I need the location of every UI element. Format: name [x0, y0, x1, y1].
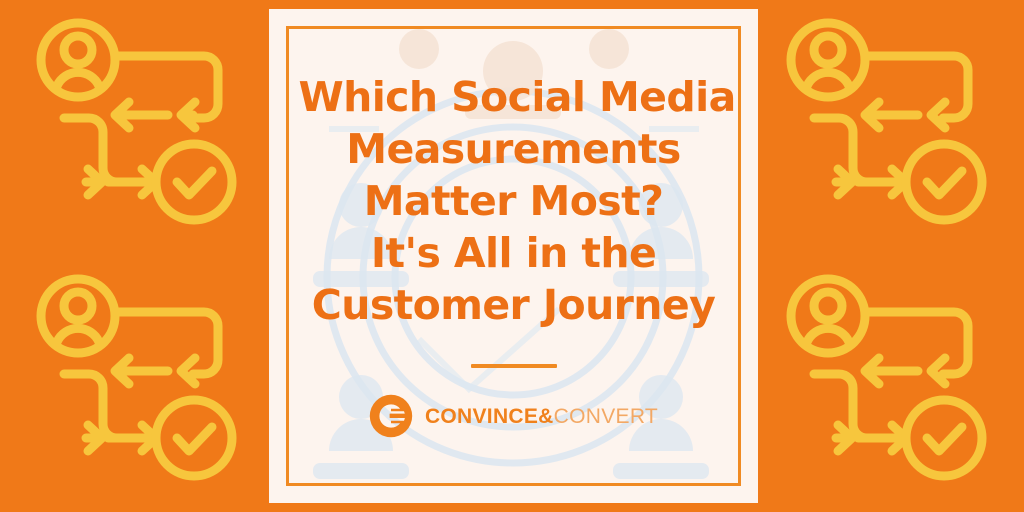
- left-arrow-icon: [115, 358, 168, 384]
- customer-journey-flow-icon: [780, 268, 1002, 490]
- right-arrow-icon: [108, 425, 156, 451]
- left-arrow-icon: [115, 102, 168, 128]
- check-circle-icon: [906, 400, 982, 476]
- check-circle-icon: [156, 144, 232, 220]
- left-arrow-icon: [865, 102, 918, 128]
- headline-line-5: Customer Journey: [299, 279, 729, 331]
- convince-and-convert-c-mark-icon: [369, 394, 413, 438]
- customer-journey-flow-icon: [30, 268, 252, 490]
- headline-line-4: It's All in the: [299, 227, 729, 279]
- social-share-graphic: Which Social Media Measurements Matter M…: [0, 0, 1024, 512]
- headline-line-1: Which Social Media: [299, 71, 729, 123]
- check-circle-icon: [156, 400, 232, 476]
- customer-journey-flow-icon: [780, 12, 1002, 234]
- right-arrow-icon: [858, 425, 906, 451]
- left-arrow-icon: [181, 102, 195, 128]
- right-arrow-icon: [108, 169, 156, 195]
- title-divider: [471, 364, 557, 368]
- brand-logo: CONVINCE&CONVERT: [369, 394, 658, 438]
- wordmark-convert: CONVERT: [554, 405, 658, 428]
- customer-journey-flow-icon: [30, 12, 252, 234]
- card-content: Which Social Media Measurements Matter M…: [269, 9, 758, 503]
- page-title: Which Social Media Measurements Matter M…: [291, 71, 737, 331]
- brand-wordmark: CONVINCE&CONVERT: [425, 406, 658, 427]
- check-circle-icon: [906, 144, 982, 220]
- headline-line-2: Measurements: [299, 123, 729, 175]
- right-arrow-icon: [858, 169, 906, 195]
- headline-line-3: Matter Most?: [299, 175, 729, 227]
- title-card: Which Social Media Measurements Matter M…: [269, 9, 758, 503]
- left-arrow-icon: [865, 358, 918, 384]
- wordmark-convince: CONVINCE&: [425, 405, 554, 428]
